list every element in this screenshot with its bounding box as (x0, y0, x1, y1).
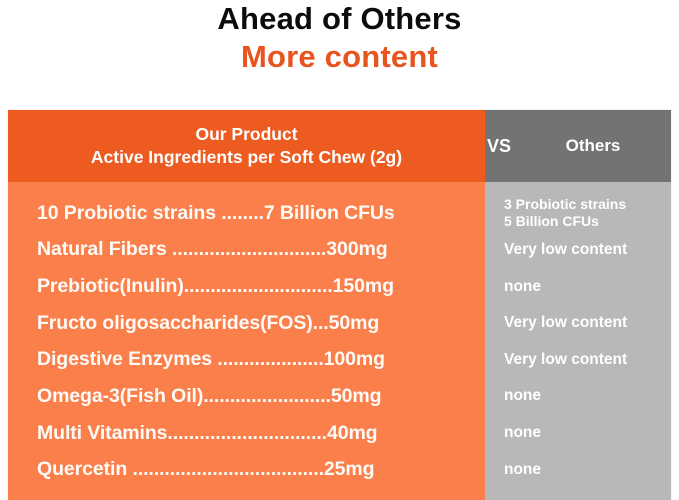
row-others-line: none (504, 461, 663, 479)
table-row: Prebiotic(Inulin).......................… (8, 268, 485, 305)
column-our-product: 10 Probiotic strains ........7 Billion C… (8, 182, 485, 500)
table-row: none (485, 378, 671, 415)
table-row: Fructo oligosaccharides(FOS)...50mg (8, 305, 485, 342)
table-row: Digestive Enzymes ....................10… (8, 342, 485, 379)
table-row: Quercetin ..............................… (8, 451, 485, 488)
row-others-line: Very low content (504, 241, 663, 259)
table-body: 10 Probiotic strains ........7 Billion C… (8, 182, 671, 500)
row-others-line: none (504, 278, 663, 296)
table-row: none (485, 268, 671, 305)
row-others-line: none (504, 424, 663, 442)
header-our-product-title: Our Product (27, 123, 467, 146)
table-header-row: Our Product Active Ingredients per Soft … (8, 110, 671, 182)
headline-primary: Ahead of Others (0, 0, 679, 37)
table-row: Very low content (485, 342, 671, 379)
table-row: Natural Fibers .........................… (8, 232, 485, 269)
header-our-product-subtitle: Active Ingredients per Soft Chew (2g) (27, 146, 467, 169)
header-cell-our-product: Our Product Active Ingredients per Soft … (8, 110, 485, 182)
table-row: Very low content (485, 305, 671, 342)
row-others-line: Very low content (504, 314, 663, 332)
header-cell-others: Others (537, 110, 671, 182)
row-others-line: none (504, 387, 663, 405)
row-others-line: Very low content (504, 351, 663, 369)
table-row: none (485, 415, 671, 452)
comparison-infographic: Ahead of Others More content Our Product… (0, 0, 679, 500)
table-row: Very low content (485, 232, 671, 269)
table-row: 3 Probiotic strains 5 Billion CFUs (485, 195, 671, 232)
header-cell-vs: VS (485, 110, 537, 182)
table-row: Omega-3(Fish Oil).......................… (8, 378, 485, 415)
column-others: 3 Probiotic strains 5 Billion CFUs Very … (485, 182, 671, 500)
comparison-table: Our Product Active Ingredients per Soft … (8, 110, 671, 500)
row-others-line: 5 Billion CFUs (504, 213, 663, 230)
headline-block: Ahead of Others More content (0, 0, 679, 75)
headline-secondary: More content (0, 37, 679, 75)
table-row: none (485, 451, 671, 488)
row-others-line: 3 Probiotic strains (504, 196, 663, 213)
table-row: Multi Vitamins..........................… (8, 415, 485, 452)
table-row: 10 Probiotic strains ........7 Billion C… (8, 195, 485, 232)
